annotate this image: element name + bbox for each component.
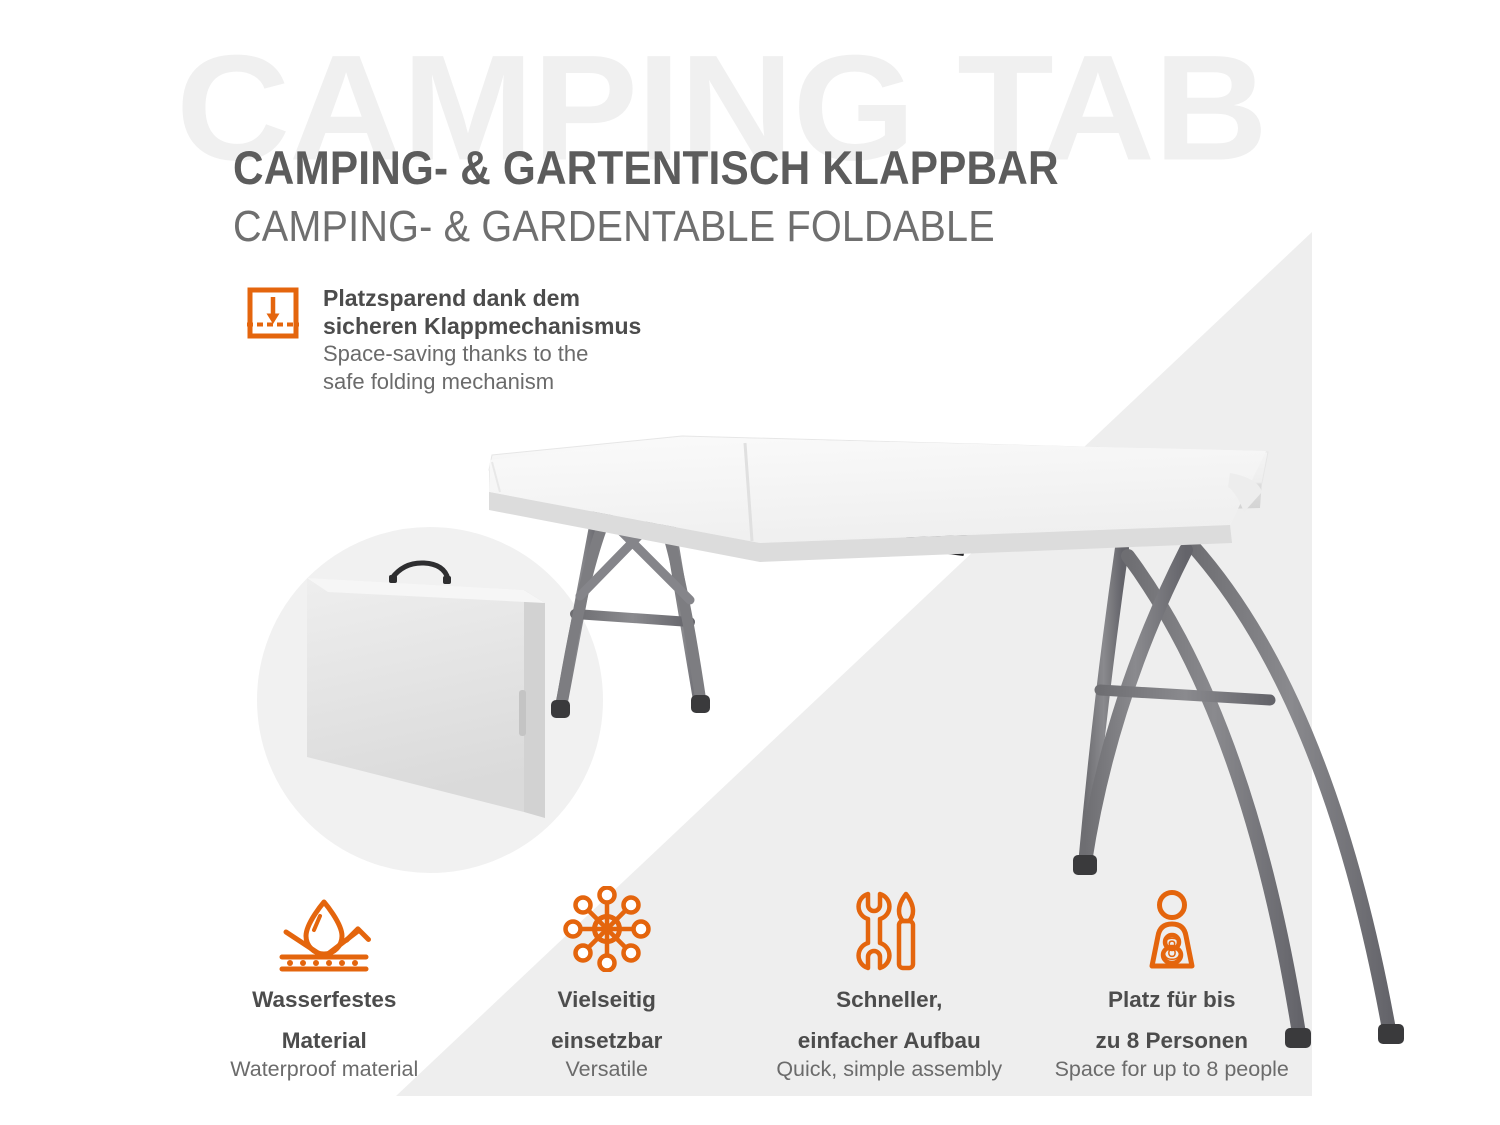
callout-english-line2: safe folding mechanism xyxy=(323,368,641,396)
benefit-german-line2: einfacher Aufbau xyxy=(798,1027,981,1054)
benefit-waterproof: Wasserfestes Material Waterproof materia… xyxy=(183,898,466,1083)
benefit-german-line2: Material xyxy=(282,1027,367,1054)
feature-callout: Platzsparend dank dem sicheren Klappmech… xyxy=(247,284,641,396)
benefit-german-line2: zu 8 Personen xyxy=(1095,1027,1248,1054)
benefit-english: Space for up to 8 people xyxy=(1055,1056,1289,1083)
benefit-icon-wrap: 8 xyxy=(1137,898,1207,972)
benefit-german-line1: Wasserfestes xyxy=(252,986,396,1013)
benefit-icon-wrap xyxy=(272,898,376,972)
folded-table-inset xyxy=(255,525,605,875)
benefit-english: Versatile xyxy=(566,1056,648,1083)
benefit-german-line2: einsetzbar xyxy=(551,1027,662,1054)
benefit-german-line1: Schneller, xyxy=(836,986,942,1013)
wrench-screwdriver-icon xyxy=(850,890,928,972)
benefit-row: Wasserfestes Material Waterproof materia… xyxy=(183,898,1313,1083)
benefit-english: Waterproof material xyxy=(230,1056,418,1083)
benefit-english: Quick, simple assembly xyxy=(776,1056,1002,1083)
waterproof-droplet-icon xyxy=(272,898,376,972)
fold-down-arrow-icon xyxy=(247,287,299,339)
title-english: CAMPING- & GARDENTABLE FOLDABLE xyxy=(233,200,1059,254)
benefit-german-line1: Vielseitig xyxy=(558,986,656,1013)
feature-callout-text: Platzsparend dank dem sicheren Klappmech… xyxy=(323,284,641,396)
callout-german-line1: Platzsparend dank dem xyxy=(323,284,641,312)
benefit-icon-wrap xyxy=(850,898,928,972)
benefit-icon-wrap xyxy=(563,898,651,972)
versatile-network-icon xyxy=(563,886,651,972)
title-german: CAMPING- & GARTENTISCH KLAPPBAR xyxy=(233,140,1059,196)
benefit-assembly: Schneller, einfacher Aufbau Quick, simpl… xyxy=(748,898,1031,1083)
page-title: CAMPING- & GARTENTISCH KLAPPBAR CAMPING-… xyxy=(233,140,1150,254)
fold-latch-handle xyxy=(906,510,968,553)
benefit-capacity: 8 Platz für bis zu 8 Personen Space for … xyxy=(1031,898,1314,1083)
benefit-german-line1: Platz für bis xyxy=(1108,986,1236,1013)
infographic-canvas: CAMPING TAB CAMPING- & GARTENTISCH KLAPP… xyxy=(0,0,1500,1125)
person-capacity-8-icon: 8 xyxy=(1137,890,1207,972)
callout-german-line2: sicheren Klappmechanismus xyxy=(323,312,641,340)
callout-english-line1: Space-saving thanks to the xyxy=(323,340,641,368)
benefit-versatile: Vielseitig einsetzbar Versatile xyxy=(466,898,749,1083)
